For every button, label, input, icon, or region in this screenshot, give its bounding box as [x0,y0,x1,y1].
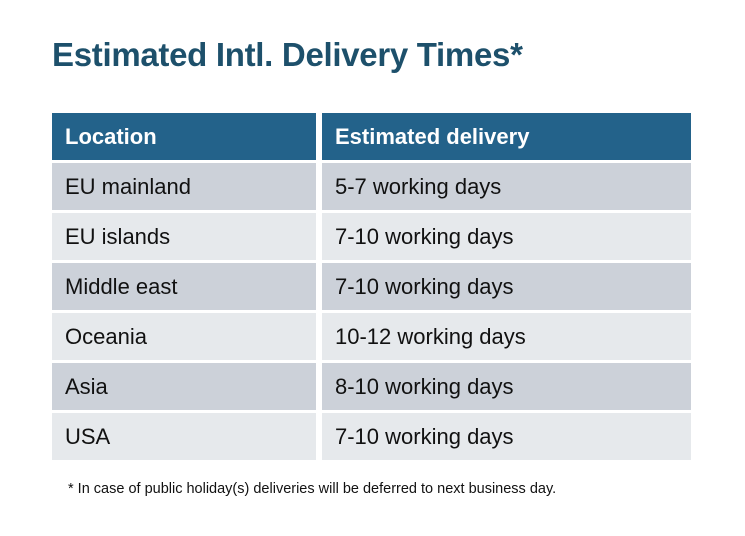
cell-delivery: 5-7 working days [322,163,691,210]
table-row: Oceania 10-12 working days [52,313,691,360]
cell-location: Asia [52,363,316,410]
cell-location: Oceania [52,313,316,360]
cell-location: EU mainland [52,163,316,210]
table-row: Middle east 7-10 working days [52,263,691,310]
cell-delivery: 7-10 working days [322,263,691,310]
cell-delivery: 7-10 working days [322,413,691,460]
cell-delivery: 8-10 working days [322,363,691,410]
cell-location: Middle east [52,263,316,310]
table-row: EU mainland 5-7 working days [52,163,691,210]
cell-location: EU islands [52,213,316,260]
table-row: EU islands 7-10 working days [52,213,691,260]
table-header-row: Location Estimated delivery [52,113,691,160]
column-header-delivery: Estimated delivery [322,113,691,160]
delivery-times-table: Location Estimated delivery EU mainland … [52,113,691,460]
cell-delivery: 10-12 working days [322,313,691,360]
cell-location: USA [52,413,316,460]
cell-delivery: 7-10 working days [322,213,691,260]
column-header-location: Location [52,113,316,160]
table-row: USA 7-10 working days [52,413,691,460]
footnote-text: * In case of public holiday(s) deliverie… [68,481,556,497]
table-row: Asia 8-10 working days [52,363,691,410]
delivery-times-page: Estimated Intl. Delivery Times* Location… [0,0,745,536]
page-title: Estimated Intl. Delivery Times* [52,36,523,74]
